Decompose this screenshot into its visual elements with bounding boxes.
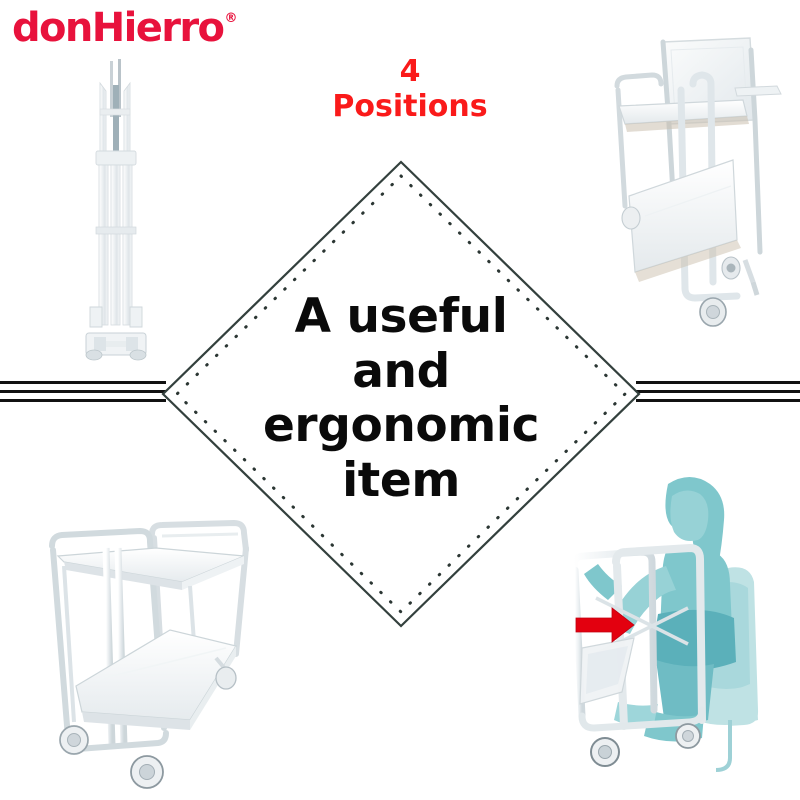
badge-text-line: A useful xyxy=(161,290,641,345)
triple-rule-left xyxy=(0,381,166,405)
rule-line xyxy=(636,381,800,384)
rule-line xyxy=(0,381,166,384)
badge-text-line: ergonomic xyxy=(161,399,641,454)
open-cart-illustration xyxy=(52,523,246,788)
brand-logo: donHierro ® xyxy=(12,8,237,48)
rule-line xyxy=(636,390,800,393)
positions-callout-number: 4 xyxy=(270,54,550,89)
rule-line xyxy=(0,390,166,393)
product-photo-open xyxy=(30,490,260,800)
registered-trademark-icon: ® xyxy=(224,12,237,25)
folded-cart-illustration xyxy=(86,59,146,360)
product-photo-in-use xyxy=(560,470,800,800)
rule-line xyxy=(636,399,800,402)
brand-logo-wordmark: donHierro xyxy=(12,8,223,48)
positions-callout-label: Positions xyxy=(270,89,550,124)
rule-line xyxy=(0,399,166,402)
product-photo-folded xyxy=(58,55,178,365)
product-infographic: donHierro ® 4 Positions A useful and erg… xyxy=(0,0,800,800)
badge-text-line: and xyxy=(161,345,641,400)
triple-rule-right xyxy=(636,381,800,405)
product-photo-unfolding xyxy=(585,20,800,370)
unfolding-cart-illustration xyxy=(617,38,781,326)
positions-callout: 4 Positions xyxy=(270,54,550,125)
